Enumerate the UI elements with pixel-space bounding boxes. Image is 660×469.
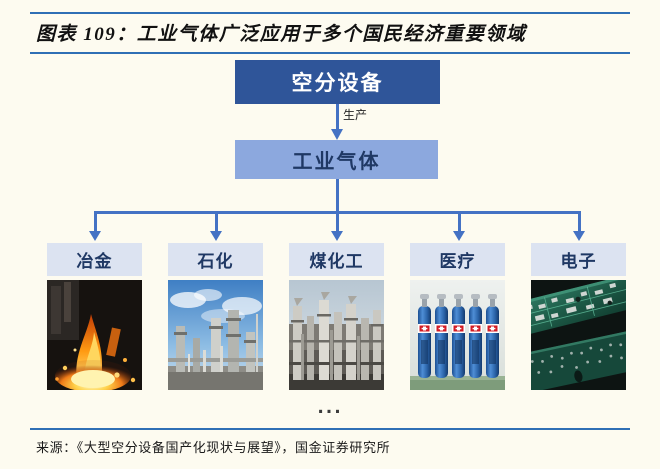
category-label-coal-chemical: 煤化工 <box>310 247 364 272</box>
electronics-circuit-board-photo <box>531 280 626 390</box>
connector-production-arrowhead-icon <box>331 129 343 140</box>
source-rule <box>30 428 630 430</box>
branch-arrowhead-icon-4 <box>453 231 465 241</box>
branch-arrowhead-icon-3 <box>331 231 343 241</box>
node-industrial-gas-label: 工业气体 <box>293 145 381 174</box>
category-column-coal-chemical: 煤化工 <box>289 243 384 390</box>
category-label-box-electronics: 电子 <box>531 243 626 276</box>
category-label-box-metallurgy: 冶金 <box>47 243 142 276</box>
source-note: 来源：《大型空分设备国产化现状与展望》，国金证券研究所 <box>36 437 390 456</box>
connector-production-line <box>336 104 339 131</box>
branch-arrowhead-icon-2 <box>210 231 222 241</box>
category-label-electronics: 电子 <box>561 247 597 272</box>
exhibit-title-block: 图表 109：工业气体广泛应用于多个国民经济重要领域 <box>30 12 630 54</box>
medical-oxygen-cylinders-photo <box>410 280 505 390</box>
branch-drop-line-2 <box>215 211 218 233</box>
category-label-box-petrochemical: 石化 <box>168 243 263 276</box>
category-label-petrochemical: 石化 <box>198 247 234 272</box>
category-column-metallurgy: 冶金 <box>47 243 142 390</box>
category-label-box-coal-chemical: 煤化工 <box>289 243 384 276</box>
branch-stem-line <box>336 179 339 213</box>
node-air-separation-equipment-label: 空分设备 <box>292 67 384 97</box>
category-column-medical: 医疗 <box>410 243 505 390</box>
category-label-medical: 医疗 <box>440 247 476 272</box>
branch-drop-line-1 <box>94 211 97 233</box>
branch-drop-line-5 <box>578 211 581 233</box>
branch-arrowhead-icon-1 <box>89 231 101 241</box>
node-air-separation-equipment: 空分设备 <box>235 60 440 104</box>
molten-metal-foundry-photo <box>47 280 142 390</box>
exhibit-title: 图表 109：工业气体广泛应用于多个国民经济重要领域 <box>30 14 630 52</box>
branch-arrowhead-icon-5 <box>573 231 585 241</box>
node-industrial-gas: 工业气体 <box>235 140 438 179</box>
category-label-metallurgy: 冶金 <box>77 247 113 272</box>
branch-drop-line-3 <box>336 211 339 233</box>
category-column-electronics: 电子 <box>531 243 626 390</box>
connector-production-label: 生产 <box>343 106 367 123</box>
title-rule-bottom <box>30 52 630 54</box>
branch-drop-line-4 <box>458 211 461 233</box>
category-column-petrochemical: 石化 <box>168 243 263 390</box>
more-categories-ellipsis: ... <box>0 398 660 418</box>
coal-chemical-plant-photo <box>289 280 384 390</box>
category-label-box-medical: 医疗 <box>410 243 505 276</box>
exhibit-figure: 图表 109：工业气体广泛应用于多个国民经济重要领域 空分设备 生产 工业气体 … <box>0 0 660 469</box>
petrochemical-refinery-photo <box>168 280 263 390</box>
